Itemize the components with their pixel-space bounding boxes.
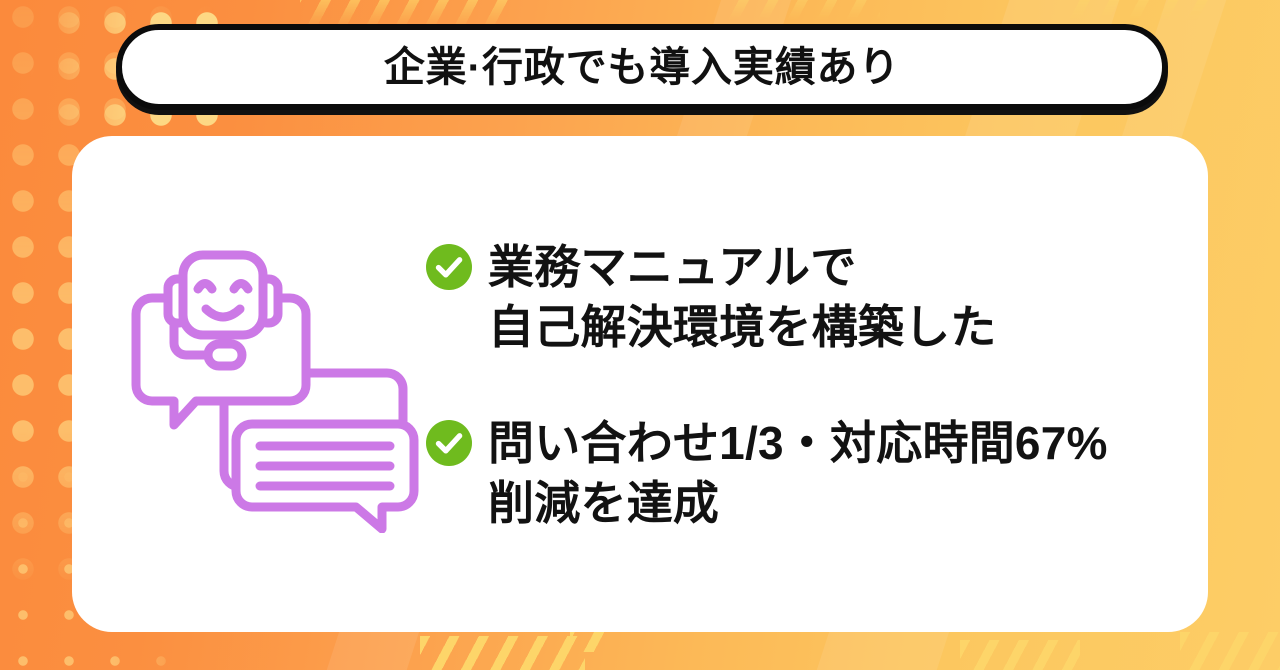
bot-message-bubble <box>236 424 414 529</box>
card-inner: 業務マニュアルで 自己解決環境を構築した 問い合わせ1/3・対応時間67% 削減… <box>72 234 1208 533</box>
list-item: 業務マニュアルで 自己解決環境を構築した <box>426 238 1208 358</box>
slide-canvas: 企業·行政でも導入実績あり <box>0 0 1280 670</box>
diagonal-stripes <box>720 0 880 20</box>
content-card: 業務マニュアルで 自己解決環境を構築した 問い合わせ1/3・対応時間67% 削減… <box>72 136 1208 632</box>
bot-microphone <box>208 344 242 366</box>
benefit-list: 業務マニュアルで 自己解決環境を構築した 問い合わせ1/3・対応時間67% 削減… <box>420 238 1208 533</box>
list-item-label: 問い合わせ1/3・対応時間67% 削減を達成 <box>488 414 1108 534</box>
list-item: 問い合わせ1/3・対応時間67% 削減を達成 <box>426 414 1208 534</box>
check-circle-icon <box>426 420 472 466</box>
check-circle-icon <box>426 244 472 290</box>
chatbot-support-illustration <box>130 243 420 533</box>
list-item-label: 業務マニュアルで 自己解決環境を構築した <box>488 238 997 358</box>
headline-banner: 企業·行政でも導入実績あり <box>116 24 1168 110</box>
diagonal-stripes <box>1180 632 1280 670</box>
diagonal-stripes <box>1060 0 1210 20</box>
bot-head <box>183 255 263 335</box>
check-circle-glyph <box>426 244 472 290</box>
diagonal-stripes <box>420 636 585 670</box>
check-circle-glyph <box>426 420 472 466</box>
chatbot-support-icon <box>130 243 420 533</box>
headline-text: 企業·行政でも導入実績あり <box>384 47 900 88</box>
diagonal-stripes <box>960 640 1080 670</box>
